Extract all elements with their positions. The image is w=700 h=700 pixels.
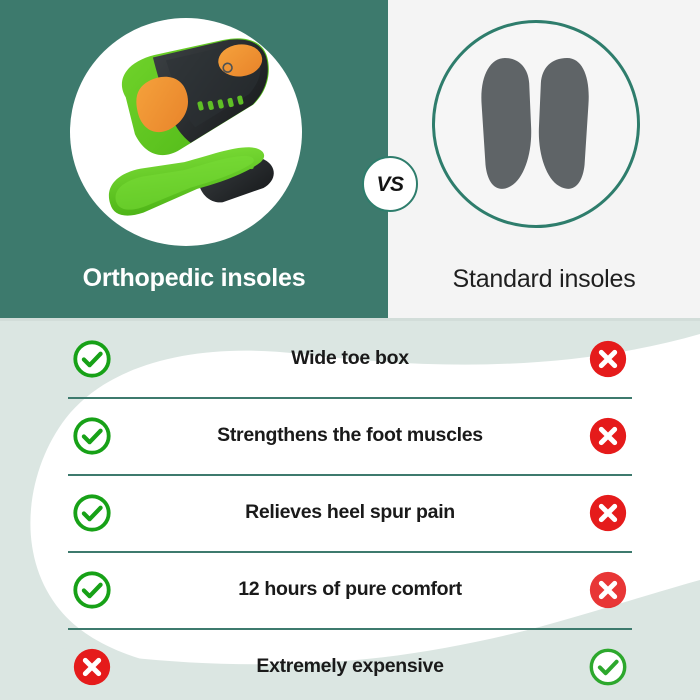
orthopedic-insoles-illustration	[70, 18, 302, 246]
standard-label: Standard insoles	[388, 265, 700, 294]
row-divider-3	[68, 551, 632, 553]
table-row: Wide toe box	[0, 320, 700, 397]
row-2-feature-label: Relieves heel spur pain	[152, 501, 548, 524]
row-divider-2	[68, 474, 632, 476]
row-divider-4	[68, 628, 632, 630]
row-1-orthopedic-cell	[32, 415, 152, 457]
row-4-orthopedic-cell	[32, 646, 152, 688]
row-0-orthopedic-cell	[32, 338, 152, 380]
cross-circle-icon	[587, 569, 629, 611]
table-row: 12 hours of pure comfort	[0, 551, 700, 628]
table-row: Extremely expensive	[0, 628, 700, 700]
cross-circle-icon	[587, 338, 629, 380]
header-section: Orthopedic insoles Standard insoles VS	[0, 0, 700, 318]
table-row: Strengthens the foot muscles	[0, 397, 700, 474]
row-2-standard-cell	[548, 492, 668, 534]
row-1-standard-cell	[548, 415, 668, 457]
row-3-feature-label: 12 hours of pure comfort	[152, 578, 548, 601]
table-row: Relieves heel spur pain	[0, 474, 700, 551]
row-4-feature-label: Extremely expensive	[152, 655, 548, 678]
row-divider-1	[68, 397, 632, 399]
row-0-feature-label: Wide toe box	[152, 347, 548, 370]
check-circle-icon	[71, 492, 113, 534]
check-circle-icon	[71, 338, 113, 380]
standard-insoles-image	[432, 20, 640, 228]
cross-circle-icon	[71, 646, 113, 688]
check-circle-icon	[587, 646, 629, 688]
row-3-orthopedic-cell	[32, 569, 152, 611]
cross-circle-icon	[587, 492, 629, 534]
row-0-standard-cell	[548, 338, 668, 380]
check-circle-icon	[71, 569, 113, 611]
row-3-standard-cell	[548, 569, 668, 611]
check-circle-icon	[71, 415, 113, 457]
orthopedic-label: Orthopedic insoles	[0, 264, 388, 293]
row-4-standard-cell	[548, 646, 668, 688]
vs-badge: VS	[362, 156, 418, 212]
standard-insoles-illustration	[435, 23, 637, 225]
vs-badge-label: VS	[376, 174, 403, 195]
cross-circle-icon	[587, 415, 629, 457]
row-1-feature-label: Strengthens the foot muscles	[152, 424, 548, 447]
orthopedic-insoles-image	[70, 18, 302, 246]
insole-comparison-infographic: Orthopedic insoles Standard insoles VS	[0, 0, 700, 700]
comparison-table: Wide toe box Strengthens the foot muscle…	[0, 318, 700, 700]
row-2-orthopedic-cell	[32, 492, 152, 534]
